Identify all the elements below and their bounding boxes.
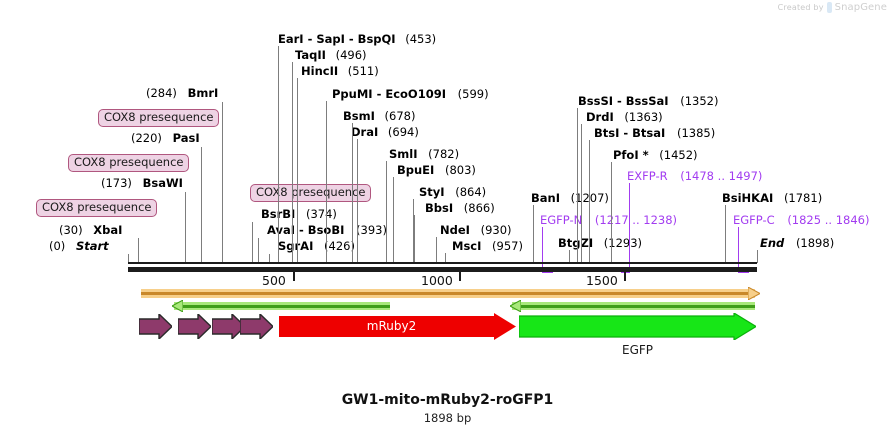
enzyme-name: DrdI: [586, 110, 614, 124]
enzyme-label-bsiHKAI[interactable]: BsiHKAI (1781): [722, 192, 822, 205]
feature-label: COX8 presequence: [42, 200, 151, 214]
leader-line-bsrBI: [252, 222, 253, 263]
enzyme-name: BsiHKAI: [722, 191, 773, 205]
enzyme-label-btsI-btsaI[interactable]: BtsI - BtsaI (1385): [594, 127, 715, 140]
enzyme-name: TaqII: [295, 48, 326, 62]
enzyme-position: (30): [59, 223, 83, 237]
plasmid-subtitle: 1898 bp: [0, 411, 895, 425]
enzyme-name: BssSI - BssSaI: [578, 94, 669, 108]
enzyme-label-start[interactable]: (0) Start: [49, 240, 109, 253]
leader-line-draI: [357, 139, 358, 263]
snapgene-watermark: Created by SnapGene: [778, 2, 887, 13]
enzyme-name: EarI - SapI - BspQI: [278, 32, 396, 46]
feature-pill-cox8-presequence-3[interactable]: COX8 presequence: [36, 199, 157, 217]
enzyme-position: (173): [101, 176, 132, 190]
leader-line-bbsI: [414, 215, 415, 263]
primer-range: (1825 .. 1846): [787, 213, 869, 227]
enzyme-position: (803): [445, 163, 476, 177]
enzyme-label-bssSI-bssSaI[interactable]: BssSI - BssSaI (1352): [578, 95, 718, 108]
enzyme-label-bpuEI[interactable]: BpuEI (803): [397, 164, 476, 177]
enzyme-label-pfoI[interactable]: PfoI * (1452): [613, 149, 698, 162]
enzyme-label-bmrI[interactable]: (284) BmrI: [146, 87, 218, 100]
enzyme-position: (1898): [796, 236, 834, 250]
plasmid-backbone-line-thick[interactable]: [128, 267, 757, 272]
enzyme-position: (694): [388, 125, 419, 139]
snapgene-logo-icon: [827, 2, 832, 13]
enzyme-position: (864): [455, 185, 486, 199]
leader-line-ppuMI: [326, 101, 327, 263]
leader-line-bpuEI: [393, 177, 394, 263]
enzyme-position: (957): [492, 239, 523, 253]
enzyme-name: Start: [76, 239, 109, 253]
watermark-prefix: Created by: [778, 3, 824, 12]
enzyme-name: BtgZI: [558, 236, 593, 250]
leader-line-bssSI: [577, 108, 578, 263]
leader-line-egfp-c: [738, 227, 739, 272]
gene-label-egfp: EGFP: [519, 344, 756, 356]
primer-range: (1217 .. 1238): [595, 213, 677, 227]
leader-line-egfp-n: [542, 227, 543, 272]
enzyme-label-ppuMI-ecoO109I[interactable]: PpuMI - EcoO109I (599): [332, 88, 489, 101]
enzyme-name: BanI: [531, 191, 560, 205]
primer-label-egfp-c[interactable]: EGFP-C (1825 .. 1846): [733, 214, 869, 227]
enzyme-label-draI[interactable]: DraI (694): [351, 126, 419, 139]
enzyme-name: XbaI: [93, 223, 122, 237]
primer-label-egfp-n[interactable]: EGFP-N (1217 .. 1238): [540, 214, 677, 227]
primer-label-exfp-r[interactable]: EXFP-R (1478 .. 1497): [627, 170, 762, 183]
leader-line-pasI: [201, 147, 202, 263]
enzyme-position: (866): [464, 201, 495, 215]
enzyme-position: (1452): [659, 148, 697, 162]
enzyme-name: PasI: [173, 131, 200, 145]
enzyme-label-bsaWI[interactable]: (173) BsaWI: [101, 177, 183, 190]
enzyme-position: (1363): [624, 110, 662, 124]
enzyme-label-sgrAI[interactable]: SgrAI (426): [278, 240, 355, 253]
leader-line-end: [757, 250, 758, 263]
leader-line-smlI: [386, 161, 387, 263]
enzyme-name: BtsI - BtsaI: [594, 126, 665, 140]
enzyme-label-earI-sapI-bspQI[interactable]: EarI - SapI - BspQI (453): [278, 33, 436, 46]
enzyme-name: PfoI *: [613, 148, 649, 162]
feature-label: COX8 presequence: [104, 110, 213, 124]
feature-pill-cox8-presequence-2[interactable]: COX8 presequence: [68, 154, 189, 172]
feature-pill-cox8-presequence-1[interactable]: COX8 presequence: [98, 109, 219, 127]
annotation-bar-green-1[interactable]: [180, 305, 390, 308]
leader-line-taqII: [292, 62, 293, 263]
enzyme-name: SmlI: [389, 147, 418, 161]
enzyme-position: (220): [131, 131, 162, 145]
primer-name: EXFP-R: [627, 169, 668, 183]
leader-line-hincII: [297, 78, 298, 263]
enzyme-position: (782): [428, 147, 459, 161]
leader-line-bsaWI: [185, 192, 186, 263]
enzyme-position: (393): [356, 223, 387, 237]
ruler-tick-1000: [459, 272, 461, 281]
enzyme-name: HincII: [301, 64, 338, 78]
leader-line-bsmI: [352, 123, 353, 263]
enzyme-position: (1293): [604, 236, 642, 250]
leader-line-drdI: [581, 124, 582, 263]
annotation-bar-green-2-arrowhead: [510, 300, 521, 312]
leader-line-earI: [278, 46, 279, 263]
leader-line-bmrI: [222, 102, 223, 263]
enzyme-name: StyI: [419, 185, 445, 199]
enzyme-name: PpuMI - EcoO109I: [332, 87, 446, 101]
enzyme-name: NdeI: [440, 223, 470, 237]
watermark-brand: SnapGene: [835, 2, 887, 13]
cox8-arrow-1[interactable]: [139, 314, 172, 339]
enzyme-label-taqII[interactable]: TaqII (496): [295, 49, 367, 62]
enzyme-position: (284): [146, 86, 177, 100]
enzyme-label-hincII[interactable]: HincII (511): [301, 65, 379, 78]
enzyme-name: BbsI: [425, 201, 453, 215]
annotation-bar-green-2[interactable]: [518, 305, 755, 308]
enzyme-position: (0): [49, 239, 65, 253]
leader-line-ndeI: [436, 237, 437, 263]
enzyme-label-xbaI[interactable]: (30) XbaI: [59, 224, 122, 237]
enzyme-name: BsmI: [343, 109, 375, 123]
enzyme-label-ndeI[interactable]: NdeI (930): [440, 224, 512, 237]
ruler-label-500: 500: [262, 274, 286, 288]
enzyme-position: (678): [385, 109, 416, 123]
leader-line-xbaI: [138, 238, 139, 263]
enzyme-label-mscI[interactable]: MscI (957): [452, 240, 523, 253]
leader-line-exfp-r: [629, 183, 630, 272]
primer-name: EGFP-N: [540, 213, 582, 227]
ruler-tick-500: [293, 272, 295, 281]
primer-range: (1478 .. 1497): [680, 169, 762, 183]
enzyme-name: BsaWI: [143, 176, 183, 190]
enzyme-position: (1781): [784, 191, 822, 205]
enzyme-position: (453): [405, 32, 436, 46]
plasmid-backbone-line-thin: [128, 262, 757, 264]
ruler-label-1000: 1000: [421, 274, 453, 288]
feature-pill-cox8-presequence-4[interactable]: COX8 presequence: [250, 184, 371, 202]
enzyme-position: (599): [458, 87, 489, 101]
annotation-bar-orange-arrowhead: [748, 287, 760, 300]
enzyme-position: (426): [324, 239, 355, 253]
enzyme-name: DraI: [351, 125, 378, 139]
enzyme-name: MscI: [452, 239, 481, 253]
plasmid-title: GW1-mito-mRuby2-roGFP1: [0, 392, 895, 408]
enzyme-name: BpuEI: [397, 163, 434, 177]
enzyme-label-pasI[interactable]: (220) PasI: [131, 132, 200, 145]
annotation-bar-green-1-arrowhead: [172, 300, 183, 312]
enzyme-position: (511): [348, 64, 379, 78]
enzyme-name: SgrAI: [278, 239, 313, 253]
annotation-bar-orange[interactable]: [141, 292, 750, 295]
enzyme-label-end[interactable]: End (1898): [760, 237, 834, 250]
enzyme-label-bbsI[interactable]: BbsI (866): [425, 202, 495, 215]
gene-arrow-egfp[interactable]: [519, 313, 756, 340]
enzyme-label-styI[interactable]: StyI (864): [419, 186, 486, 199]
feature-label: COX8 presequence: [74, 155, 183, 169]
primer-name: EGFP-C: [733, 213, 775, 227]
enzyme-name: BmrI: [188, 86, 219, 100]
leader-line-banI: [533, 205, 534, 263]
feature-label: COX8 presequence: [256, 185, 365, 199]
gene-label-mruby2: mRuby2: [267, 320, 516, 332]
enzyme-position: (1352): [680, 94, 718, 108]
enzyme-position: (496): [336, 48, 367, 62]
enzyme-name: End: [760, 236, 784, 250]
enzyme-position: (930): [481, 223, 512, 237]
leader-line-pfoI: [611, 162, 612, 263]
ruler-label-1500: 1500: [586, 274, 618, 288]
gene-arrow-egfp-shape: [519, 313, 756, 340]
enzyme-label-bsmI[interactable]: BsmI (678): [343, 110, 415, 123]
enzyme-label-smlI[interactable]: SmlI (782): [389, 148, 459, 161]
enzyme-label-banI[interactable]: BanI (1207): [531, 192, 609, 205]
cox8-arrow-2[interactable]: [178, 314, 211, 339]
ruler-tick-1500: [624, 272, 626, 281]
enzyme-position: (1385): [677, 126, 715, 140]
gene-arrow-mruby2[interactable]: mRuby2: [279, 313, 516, 340]
leader-line-btsI: [589, 140, 590, 263]
enzyme-position: (374): [306, 207, 337, 221]
leader-line-avaI: [258, 238, 259, 263]
leader-line-bsiHKAI: [725, 205, 726, 263]
enzyme-label-drdI[interactable]: DrdI (1363): [586, 111, 663, 124]
